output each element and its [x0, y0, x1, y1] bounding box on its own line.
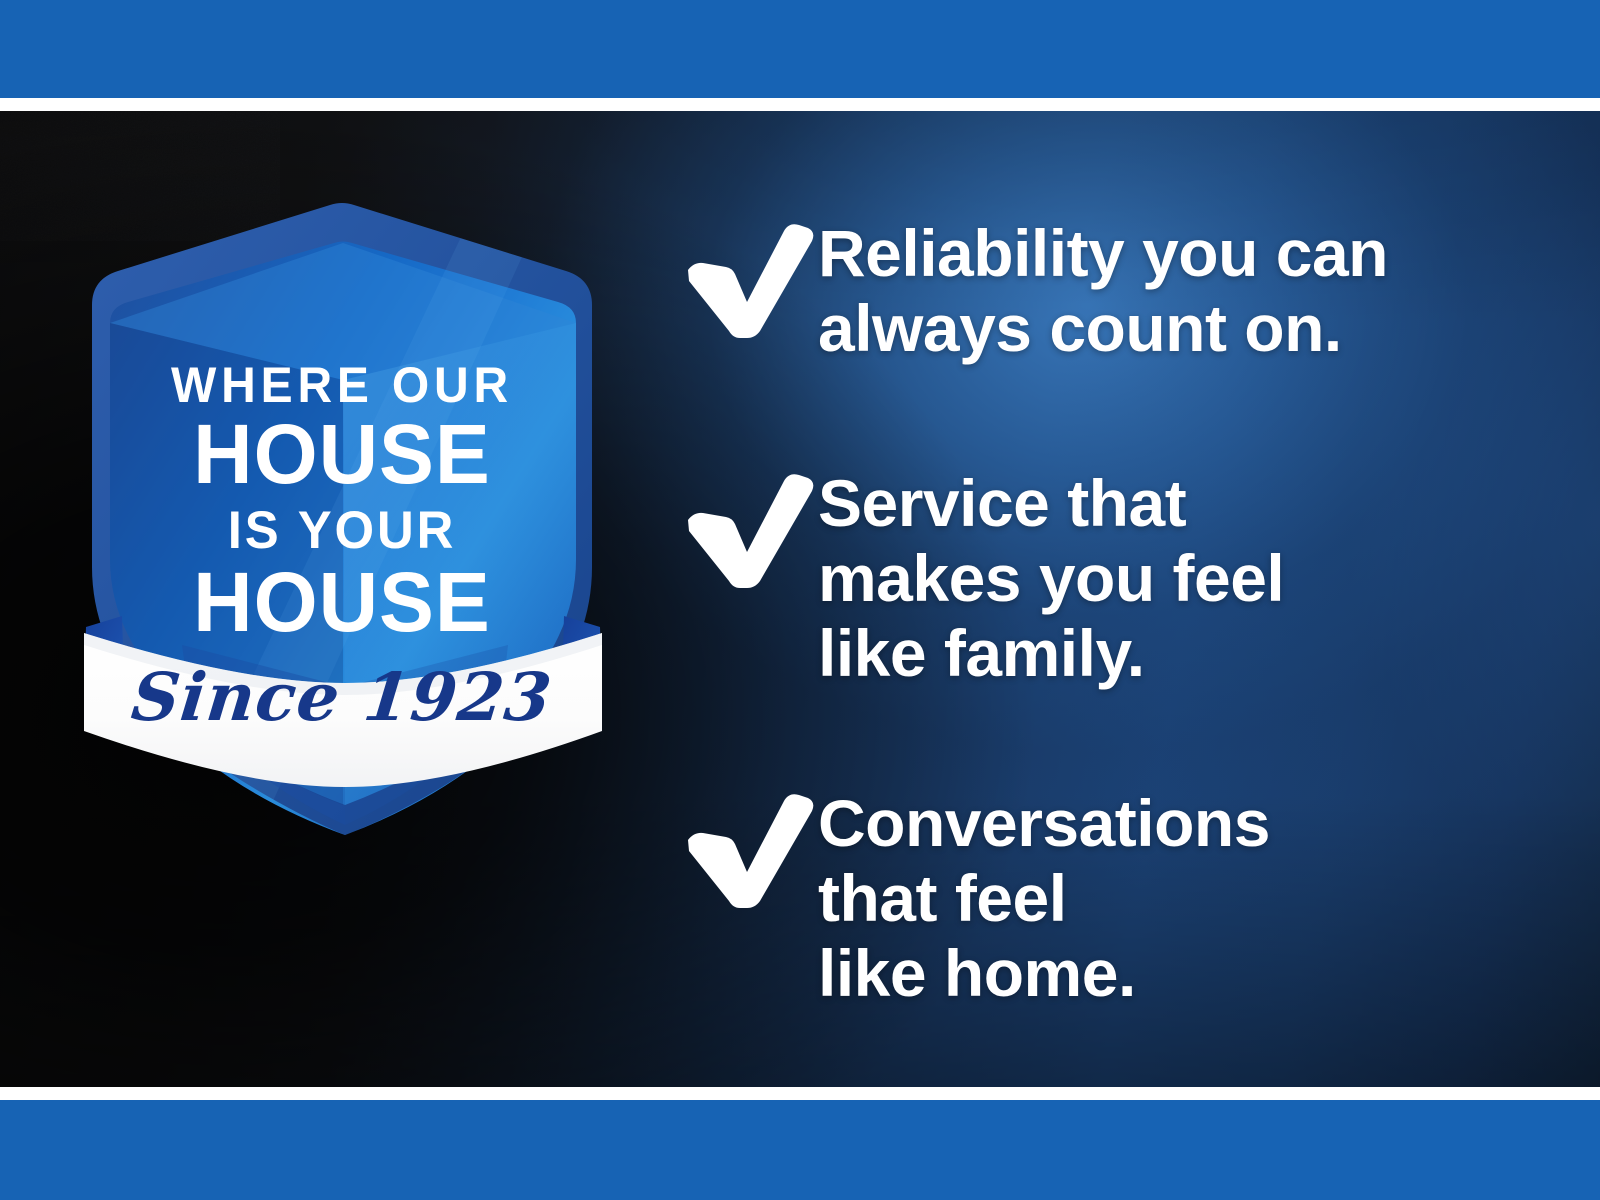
bottom-brand-bar: [0, 1100, 1600, 1200]
check-icon: [676, 218, 818, 338]
shield-emblem: WHERE OUR HOUSE IS YOUR HOUSE Since 1923: [62, 175, 622, 825]
benefit-line: Service that: [818, 466, 1284, 541]
benefit-item-reliability: Reliability you can always count on.: [676, 216, 1388, 366]
benefit-line: like family.: [818, 616, 1284, 691]
benefit-line: Conversations: [818, 786, 1270, 861]
benefit-text-service: Service that makes you feel like family.: [818, 466, 1284, 691]
benefit-text-reliability: Reliability you can always count on.: [818, 216, 1388, 366]
benefit-item-service: Service that makes you feel like family.: [676, 466, 1284, 691]
check-icon: [676, 468, 818, 588]
benefit-line: always count on.: [818, 291, 1388, 366]
check-icon: [676, 788, 818, 908]
benefits-list: Reliability you can always count on. Ser…: [676, 111, 1536, 1087]
benefit-line: that feel: [818, 861, 1270, 936]
benefit-line: Reliability you can: [818, 216, 1388, 291]
benefit-item-conversations: Conversations that feel like home.: [676, 786, 1270, 1011]
benefit-line: like home.: [818, 936, 1270, 1011]
promo-poster: WHERE OUR HOUSE IS YOUR HOUSE Since 1923…: [0, 0, 1600, 1200]
benefit-text-conversations: Conversations that feel like home.: [818, 786, 1270, 1011]
top-brand-bar: [0, 0, 1600, 98]
benefit-line: makes you feel: [818, 541, 1284, 616]
